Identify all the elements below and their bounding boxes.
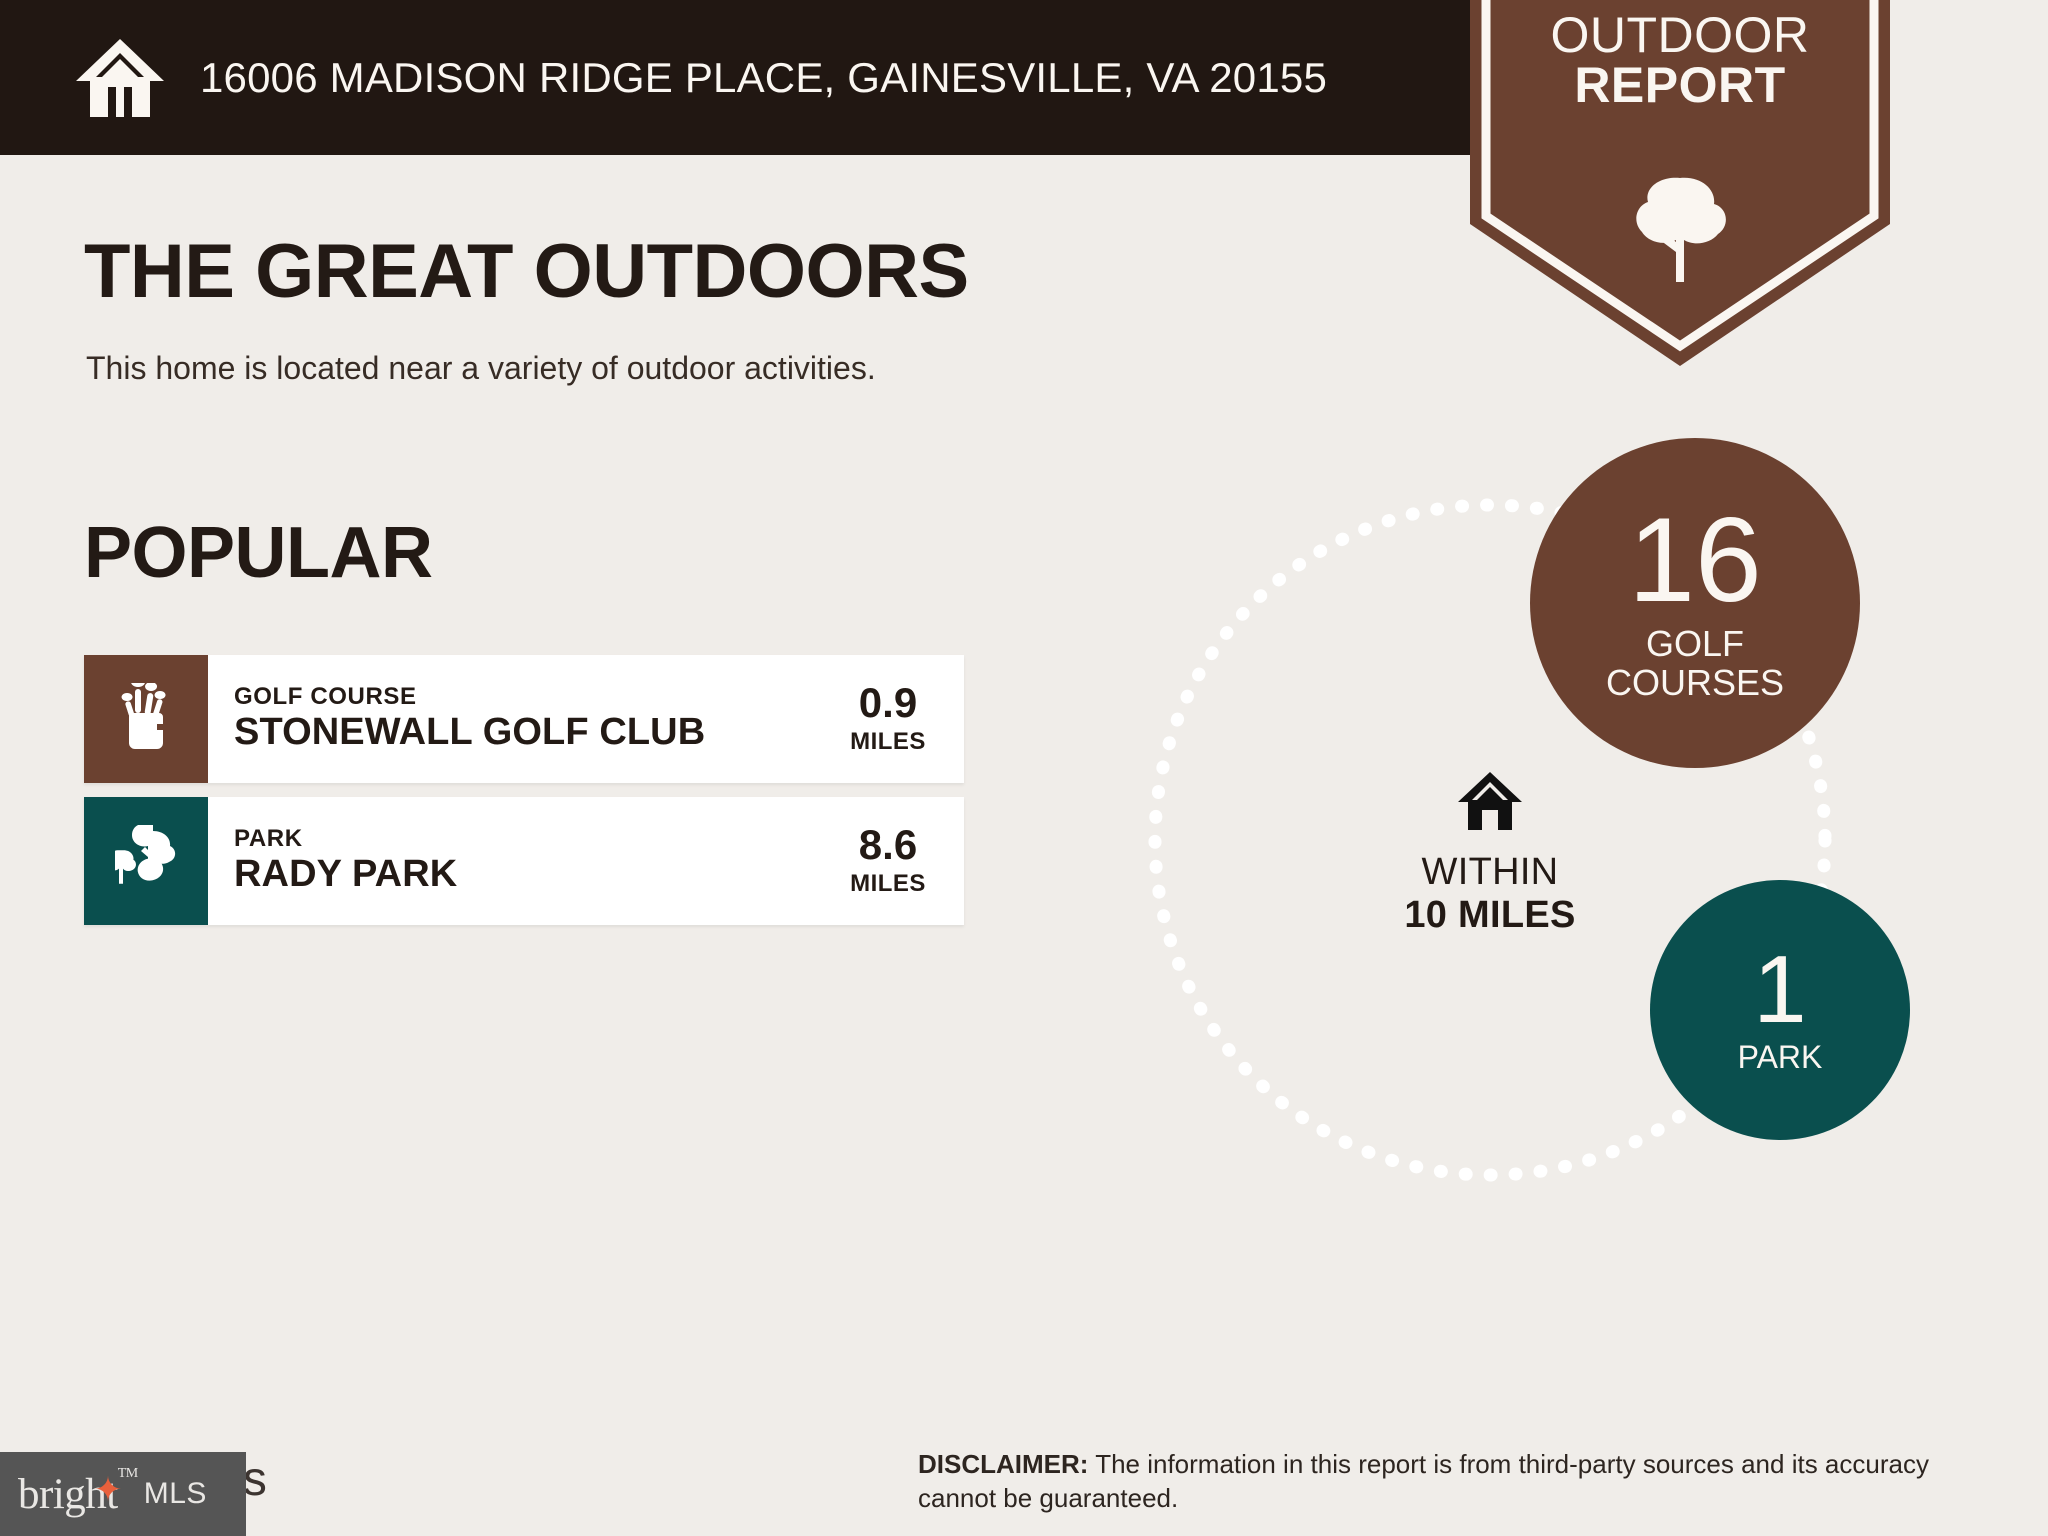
- disclaimer: DISCLAIMER: The information in this repo…: [918, 1448, 1988, 1516]
- page-title: THE GREAT OUTDOORS: [84, 228, 969, 315]
- home-icon: [74, 37, 166, 119]
- distance-unit: MILES: [836, 728, 940, 756]
- list-item-text: GOLF COURSE STONEWALL GOLF CLUB: [234, 684, 705, 753]
- trademark-mark: TM: [118, 1466, 138, 1482]
- center-home-marker: WITHIN 10 MILES: [1390, 770, 1590, 937]
- list-item-distance: 0.9 MILES: [836, 682, 940, 756]
- list-item[interactable]: PARK RADY PARK 8.6 MILES: [84, 797, 964, 925]
- golf-bag-icon: [84, 655, 208, 783]
- golf-courses-label: GOLF COURSES: [1606, 625, 1784, 703]
- parks-label: PARK: [1738, 1039, 1823, 1076]
- header-bar: 16006 MADISON RIDGE PLACE, GAINESVILLE, …: [0, 0, 1472, 155]
- golf-label-line1: GOLF: [1606, 625, 1784, 664]
- outdoor-report-page: 16006 MADISON RIDGE PLACE, GAINESVILLE, …: [0, 0, 2048, 1536]
- golf-label-line2: COURSES: [1606, 664, 1784, 703]
- list-item[interactable]: GOLF COURSE STONEWALL GOLF CLUB 0.9 MILE…: [84, 655, 964, 783]
- outdoor-report-badge: OUTDOOR REPORT: [1470, 0, 1890, 368]
- bright-mls-logo: bright ✦ TM MLS: [0, 1452, 246, 1536]
- proximity-infographic: WITHIN 10 MILES 16 GOLF COURSES 1 PARK: [1090, 450, 1890, 1240]
- home-icon: [1456, 819, 1524, 836]
- radius-label-line2: 10 MILES: [1390, 894, 1590, 937]
- bright-mls-wordmark: bright ✦ TM: [18, 1470, 118, 1519]
- park-trees-icon: [84, 797, 208, 925]
- mls-suffix: MLS: [144, 1477, 207, 1511]
- section-heading-popular: POPULAR: [84, 512, 433, 594]
- list-item-name: STONEWALL GOLF CLUB: [234, 711, 705, 754]
- list-item-category: PARK: [234, 826, 457, 853]
- list-item-name: RADY PARK: [234, 853, 457, 896]
- page-subtitle: This home is located near a variety of o…: [86, 350, 876, 387]
- list-item-body: PARK RADY PARK 8.6 MILES: [208, 797, 964, 925]
- list-item-category: GOLF COURSE: [234, 684, 705, 711]
- distance-value: 0.9: [836, 682, 940, 724]
- radius-label-line1: WITHIN: [1390, 851, 1590, 894]
- popular-list: GOLF COURSE STONEWALL GOLF CLUB 0.9 MILE…: [84, 655, 964, 939]
- distance-value: 8.6: [836, 824, 940, 866]
- stat-bubble-golf-courses[interactable]: 16 GOLF COURSES: [1530, 438, 1860, 768]
- golf-courses-count: 16: [1628, 503, 1761, 617]
- property-address: 16006 MADISON RIDGE PLACE, GAINESVILLE, …: [200, 54, 1327, 102]
- stat-bubble-parks[interactable]: 1 PARK: [1650, 880, 1910, 1140]
- list-item-text: PARK RADY PARK: [234, 826, 457, 895]
- list-item-body: GOLF COURSE STONEWALL GOLF CLUB 0.9 MILE…: [208, 655, 964, 783]
- disclaimer-label: DISCLAIMER:: [918, 1449, 1088, 1479]
- distance-unit: MILES: [836, 870, 940, 898]
- parks-count: 1: [1753, 944, 1806, 1035]
- list-item-distance: 8.6 MILES: [836, 824, 940, 898]
